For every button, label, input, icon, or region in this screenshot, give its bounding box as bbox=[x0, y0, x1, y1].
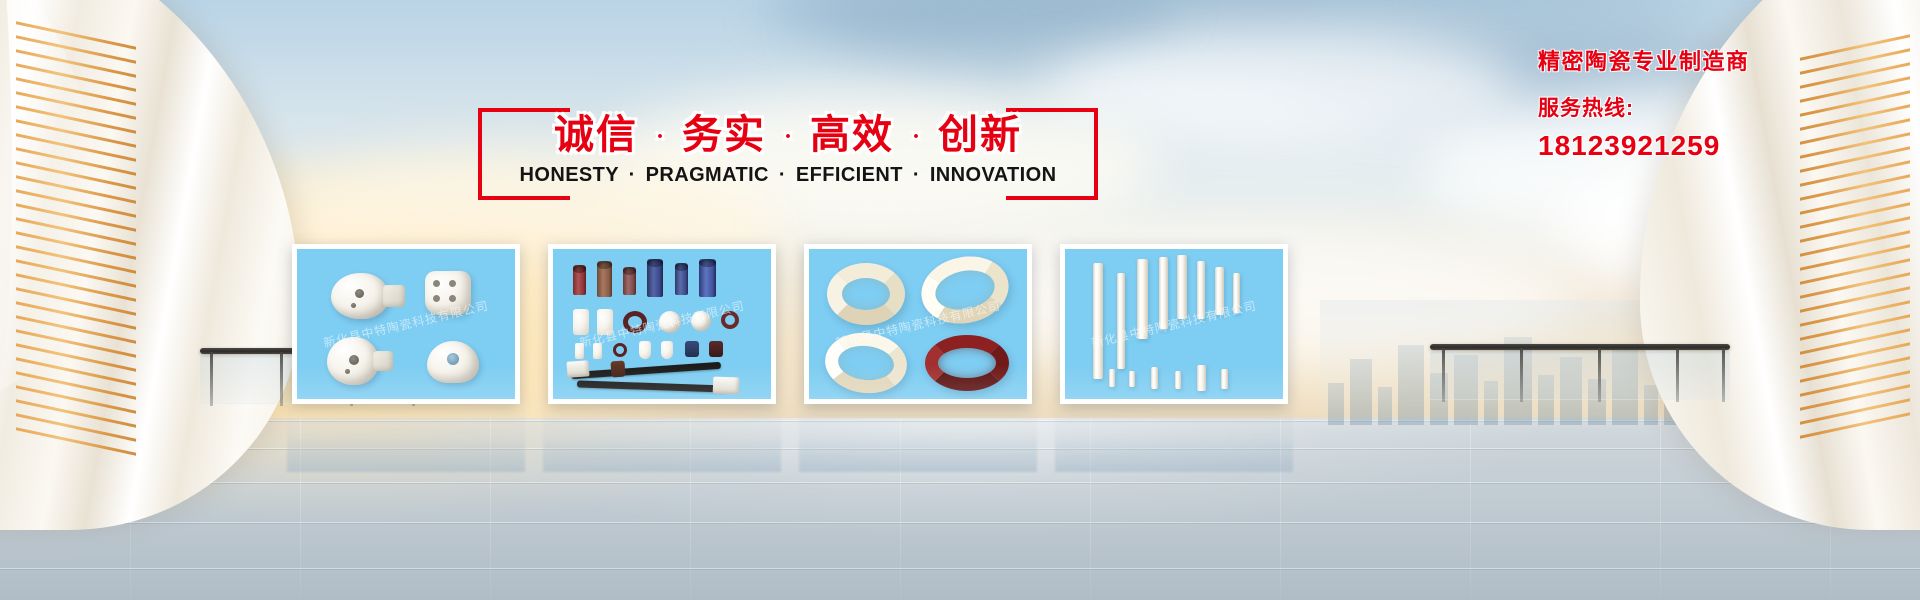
company-tagline: 精密陶瓷专业制造商 bbox=[1538, 48, 1868, 76]
hotline-number[interactable]: 18123921259 bbox=[1538, 130, 1868, 162]
panel-ceramic-tubes-wires[interactable]: 新化县中特陶瓷科技有限公司 bbox=[548, 244, 776, 404]
slogan-cn-term-1: 诚信 bbox=[554, 112, 638, 157]
slogan-cn-term-4: 创新 bbox=[938, 112, 1022, 157]
slogan-en-separator-icon: · bbox=[629, 164, 636, 186]
slogan-en-term-2: PRAGMATIC bbox=[646, 164, 769, 186]
slogan-separator-icon: · bbox=[656, 124, 664, 150]
hero-banner: 诚信 · 务实 · 高效 · 创新 HONESTY · PRAGMATIC · … bbox=[0, 0, 1920, 600]
wire-assembly-upper bbox=[571, 362, 721, 379]
ceramic-ring-3 bbox=[822, 329, 910, 397]
contact-block: 精密陶瓷专业制造商 服务热线: 18123921259 bbox=[1538, 48, 1868, 162]
product-panel-group: 新化县中特陶瓷科技有限公司 bbox=[292, 244, 1292, 406]
slogan-en-separator-icon: · bbox=[779, 164, 786, 186]
ceramic-ring-2 bbox=[915, 249, 1015, 332]
slogan-en-term-3: EFFICIENT bbox=[796, 164, 903, 186]
slogan-cn-term-2: 务实 bbox=[682, 112, 766, 157]
slogan-en-term-1: HONESTY bbox=[520, 164, 619, 186]
panel-ceramic-nozzles[interactable]: 新化县中特陶瓷科技有限公司 bbox=[292, 244, 520, 404]
hotline-label: 服务热线: bbox=[1538, 92, 1868, 122]
railing-right bbox=[1430, 344, 1730, 404]
slogan-block: 诚信 · 务实 · 高效 · 创新 HONESTY · PRAGMATIC · … bbox=[478, 108, 1098, 200]
slogan-separator-icon: · bbox=[912, 124, 920, 150]
panel-ceramic-rings[interactable]: 新化县中特陶瓷科技有限公司 bbox=[804, 244, 1032, 404]
panel-ceramic-rods[interactable]: 新化县中特陶瓷科技有限公司 bbox=[1060, 244, 1288, 404]
slogan-en-separator-icon: · bbox=[913, 164, 920, 186]
plaza-ground bbox=[0, 418, 1920, 600]
slogan-separator-icon: · bbox=[784, 124, 792, 150]
slogan-english: HONESTY · PRAGMATIC · EFFICIENT · INNOVA… bbox=[478, 164, 1098, 187]
slogan-cn-term-3: 高效 bbox=[810, 112, 894, 157]
ceramic-ring-red bbox=[925, 335, 1009, 391]
slogan-chinese: 诚信 · 务实 · 高效 · 创新 bbox=[478, 102, 1098, 160]
ceramic-ring-1 bbox=[827, 263, 905, 325]
slogan-en-term-4: INNOVATION bbox=[930, 164, 1057, 186]
wire-assembly-lower bbox=[577, 380, 727, 392]
left-louver-slats bbox=[16, 17, 136, 463]
